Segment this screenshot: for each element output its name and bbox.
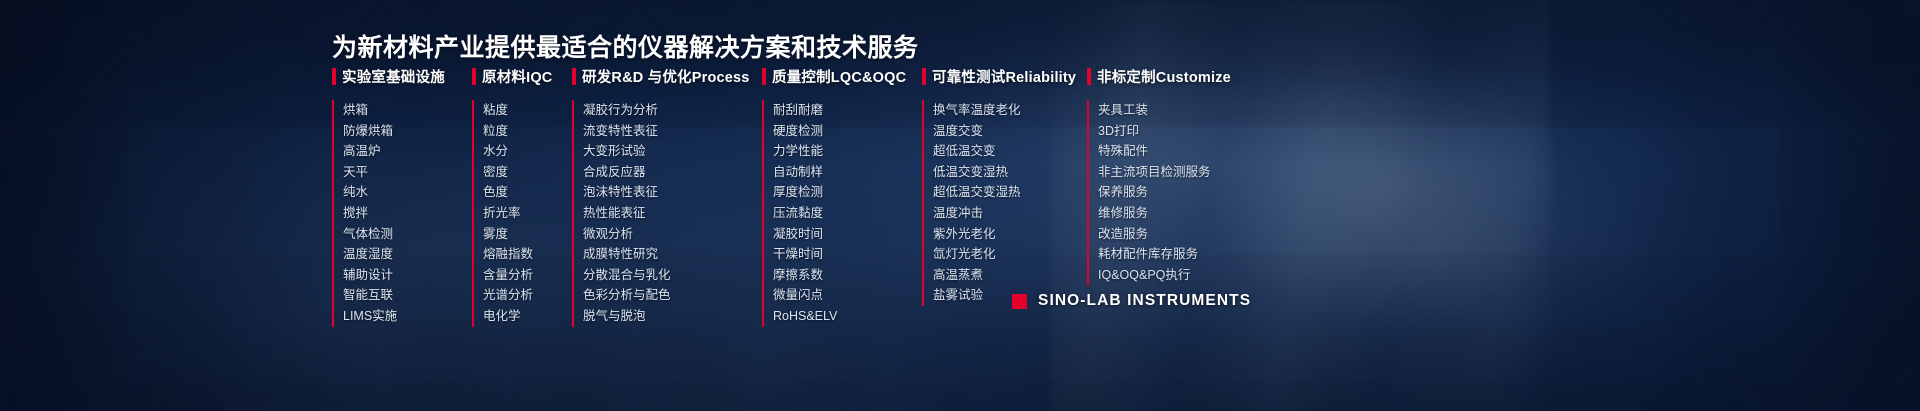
list-item[interactable]: RoHS&ELV (773, 306, 837, 327)
list-item[interactable]: 维修服务 (1098, 203, 1211, 224)
list-item[interactable]: 光谱分析 (483, 285, 533, 306)
list-item[interactable]: 保养服务 (1098, 182, 1211, 203)
list-item[interactable]: 流变特性表征 (583, 121, 671, 142)
red-accent-bar-icon (922, 68, 926, 85)
list-item[interactable]: 换气率温度老化 (933, 100, 1021, 121)
column-header-label: 原材料IQC (482, 66, 552, 87)
list-item[interactable]: 温度冲击 (933, 203, 1021, 224)
list-item[interactable]: 特殊配件 (1098, 141, 1211, 162)
column-header: 研发R&D 与优化Process (572, 66, 762, 87)
column-header-label: 研发R&D 与优化Process (582, 66, 750, 87)
red-vertical-rail-icon (922, 100, 924, 306)
list-item[interactable]: 微量闪点 (773, 285, 837, 306)
column-items: 换气率温度老化 温度交变 超低温交变 低温交变湿热 超低温交变湿热 温度冲击 紫… (922, 100, 1087, 306)
red-accent-bar-icon (762, 68, 766, 85)
red-vertical-rail-icon (572, 100, 574, 327)
list-item[interactable]: 纯水 (343, 182, 397, 203)
list-item[interactable]: 紫外光老化 (933, 224, 1021, 245)
list-item[interactable]: 气体检测 (343, 224, 397, 245)
list-item[interactable]: 温度湿度 (343, 244, 397, 265)
category-column-customize: 非标定制Customize 夹具工装 3D打印 特殊配件 非主流项目检测服务 保… (1087, 66, 1267, 285)
red-accent-bar-icon (472, 68, 476, 85)
list-item[interactable]: 泡沫特性表征 (583, 182, 671, 203)
list-item[interactable]: 超低温交变 (933, 141, 1021, 162)
list-item[interactable]: 折光率 (483, 203, 533, 224)
list-item[interactable]: 天平 (343, 162, 397, 183)
red-accent-bar-icon (332, 68, 336, 85)
list-item[interactable]: 电化学 (483, 306, 533, 327)
list-item[interactable]: 大变形试验 (583, 141, 671, 162)
list-item[interactable]: 脱气与脱泡 (583, 306, 671, 327)
list-item[interactable]: 智能互联 (343, 285, 397, 306)
column-items: 夹具工装 3D打印 特殊配件 非主流项目检测服务 保养服务 维修服务 改造服务 … (1087, 100, 1267, 285)
list-item[interactable]: 高温炉 (343, 141, 397, 162)
list-item[interactable]: 耐刮耐磨 (773, 100, 837, 121)
column-header: 可靠性测试Reliability (922, 66, 1087, 87)
list-item[interactable]: 低温交变湿热 (933, 162, 1021, 183)
banner-root: 为新材料产业提供最适合的仪器解决方案和技术服务 实验室基础设施 烘箱 防爆烘箱 … (0, 0, 1920, 411)
list-item[interactable]: 凝胶时间 (773, 224, 837, 245)
list-item[interactable]: 非主流项目检测服务 (1098, 162, 1211, 183)
column-header-label: 非标定制Customize (1097, 66, 1231, 87)
service-category-columns: 实验室基础设施 烘箱 防爆烘箱 高温炉 天平 纯水 搅拌 气体检测 温度湿度 辅… (332, 66, 1582, 327)
column-header: 原材料IQC (472, 66, 572, 87)
list-item[interactable]: 盐雾试验 (933, 285, 1021, 306)
red-accent-bar-icon (1087, 68, 1091, 85)
list-item[interactable]: 干燥时间 (773, 244, 837, 265)
red-accent-bar-icon (572, 68, 576, 85)
category-column-lab-infrastructure: 实验室基础设施 烘箱 防爆烘箱 高温炉 天平 纯水 搅拌 气体检测 温度湿度 辅… (332, 66, 472, 327)
list-item[interactable]: 粒度 (483, 121, 533, 142)
list-item[interactable]: 耗材配件库存服务 (1098, 244, 1211, 265)
list-item[interactable]: 合成反应器 (583, 162, 671, 183)
list-item[interactable]: 氙灯光老化 (933, 244, 1021, 265)
list-item[interactable]: 力学性能 (773, 141, 837, 162)
list-item[interactable]: 自动制样 (773, 162, 837, 183)
list-item[interactable]: 高温蒸煮 (933, 265, 1021, 286)
list-item[interactable]: 成膜特性研究 (583, 244, 671, 265)
list-item[interactable]: 烘箱 (343, 100, 397, 121)
column-header-label: 可靠性测试Reliability (932, 66, 1076, 87)
category-column-reliability: 可靠性测试Reliability 换气率温度老化 温度交变 超低温交变 低温交变… (922, 66, 1087, 306)
list-item[interactable]: 密度 (483, 162, 533, 183)
page-title: 为新材料产业提供最适合的仪器解决方案和技术服务 (332, 28, 919, 64)
column-header: 非标定制Customize (1087, 66, 1267, 87)
list-item[interactable]: 温度交变 (933, 121, 1021, 142)
list-item[interactable]: 微观分析 (583, 224, 671, 245)
list-item[interactable]: 分散混合与乳化 (583, 265, 671, 286)
red-vertical-rail-icon (332, 100, 334, 327)
column-items: 粘度 粒度 水分 密度 色度 折光率 雾度 熔融指数 含量分析 光谱分析 电化学 (472, 100, 572, 327)
red-square-mark-icon (1012, 294, 1027, 309)
list-item[interactable]: 色度 (483, 182, 533, 203)
red-vertical-rail-icon (472, 100, 474, 327)
list-item[interactable]: 硬度检测 (773, 121, 837, 142)
list-item[interactable]: 厚度检测 (773, 182, 837, 203)
list-item[interactable]: IQ&OQ&PQ执行 (1098, 265, 1211, 286)
column-header-label: 质量控制LQC&OQC (772, 66, 906, 87)
list-item[interactable]: 夹具工装 (1098, 100, 1211, 121)
red-vertical-rail-icon (762, 100, 764, 327)
list-item[interactable]: 水分 (483, 141, 533, 162)
list-item[interactable]: 搅拌 (343, 203, 397, 224)
column-items: 凝胶行为分析 流变特性表征 大变形试验 合成反应器 泡沫特性表征 热性能表征 微… (572, 100, 762, 327)
list-item[interactable]: 压流黏度 (773, 203, 837, 224)
list-item[interactable]: 粘度 (483, 100, 533, 121)
category-column-raw-material-iqc: 原材料IQC 粘度 粒度 水分 密度 色度 折光率 雾度 熔融指数 含量分析 光 (472, 66, 572, 327)
list-item[interactable]: 辅助设计 (343, 265, 397, 286)
category-column-rnd-process: 研发R&D 与优化Process 凝胶行为分析 流变特性表征 大变形试验 合成反… (572, 66, 762, 327)
list-item[interactable]: 改造服务 (1098, 224, 1211, 245)
list-item[interactable]: 含量分析 (483, 265, 533, 286)
list-item[interactable]: 雾度 (483, 224, 533, 245)
list-item[interactable]: 熔融指数 (483, 244, 533, 265)
list-item[interactable]: 防爆烘箱 (343, 121, 397, 142)
brand-logo: SINO-LAB INSTRUMENTS (1012, 292, 1251, 310)
list-item[interactable]: 热性能表征 (583, 203, 671, 224)
column-header-label: 实验室基础设施 (342, 66, 445, 87)
brand-name: SINO-LAB INSTRUMENTS (1038, 292, 1251, 310)
list-item[interactable]: 凝胶行为分析 (583, 100, 671, 121)
list-item[interactable]: 超低温交变湿热 (933, 182, 1021, 203)
red-vertical-rail-icon (1087, 100, 1089, 285)
column-items: 耐刮耐磨 硬度检测 力学性能 自动制样 厚度检测 压流黏度 凝胶时间 干燥时间 … (762, 100, 922, 327)
column-header: 质量控制LQC&OQC (762, 66, 922, 87)
category-column-quality-control: 质量控制LQC&OQC 耐刮耐磨 硬度检测 力学性能 自动制样 厚度检测 压流黏… (762, 66, 922, 327)
list-item[interactable]: 摩擦系数 (773, 265, 837, 286)
column-header: 实验室基础设施 (332, 66, 472, 87)
column-items: 烘箱 防爆烘箱 高温炉 天平 纯水 搅拌 气体检测 温度湿度 辅助设计 智能互联… (332, 100, 472, 327)
list-item[interactable]: 3D打印 (1098, 121, 1211, 142)
list-item[interactable]: 色彩分析与配色 (583, 285, 671, 306)
list-item[interactable]: LIMS实施 (343, 306, 397, 327)
